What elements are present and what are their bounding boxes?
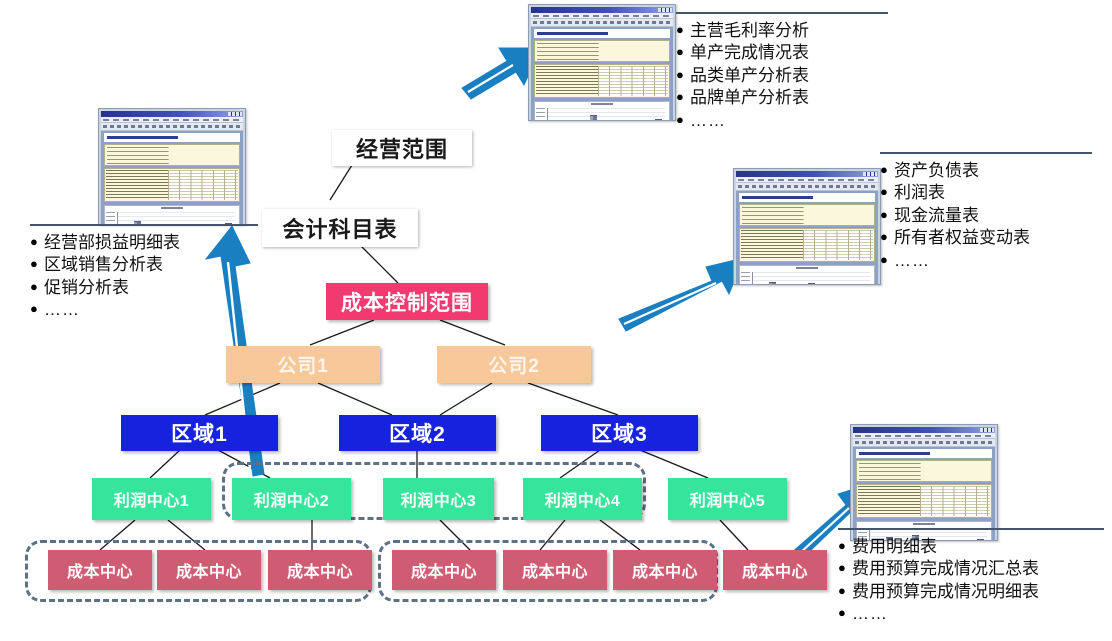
node-region-1[interactable]: 区域1 [121,415,278,451]
list-item: ●品类单产分析表 [676,65,888,87]
chart-bar [655,119,662,121]
thumb-data-table [534,64,670,98]
list-top-right-items: ●主营毛利率分析●单产完成情况表●品类单产分析表●品牌单产分析表●…… [676,20,888,132]
node-profit-center-2[interactable]: 利润中心2 [232,478,351,520]
list-item: ●…… [880,250,1092,272]
list-item-label: …… [690,110,726,132]
thumb-data-table [856,484,992,518]
list-bottom-right: ●费用明细表●费用预算完成情况汇总表●费用预算完成情况明细表●…… [838,528,1104,626]
thumb-titlebar [736,171,878,177]
list-item-label: 费用明细表 [852,536,937,558]
bullet-icon: ● [30,280,44,293]
node-profit-center-5[interactable]: 利润中心5 [668,478,787,520]
node-company-2[interactable]: 公司2 [437,346,591,383]
thumb-data-table [104,168,240,202]
node-cost-center-3[interactable]: 成本中心 [268,550,372,590]
list-item: ●费用预算完成情况汇总表 [838,558,1104,580]
thumb-filter-form [856,460,992,482]
node-region-2[interactable]: 区域2 [339,415,496,451]
node-profit-center-3[interactable]: 利润中心3 [383,478,494,520]
list-item: ●利润表 [880,182,1092,204]
thumb-filter-form [104,144,240,166]
list-rule [880,152,1092,154]
list-top-right: ●主营毛利率分析●单产完成情况表●品类单产分析表●品牌单产分析表●…… [676,12,888,132]
node-profit-center-4[interactable]: 利润中心4 [523,478,642,520]
bullet-icon: ● [30,257,44,270]
bullet-icon: ● [676,23,690,36]
bullet-icon: ● [30,235,44,248]
thumb-toolbar [531,19,673,27]
chart-bar [808,283,815,285]
chart-bar [629,120,636,121]
thumb-report-header [534,29,670,38]
list-item: ●所有者权益变动表 [880,227,1092,249]
list-item-label: 品类单产分析表 [690,65,809,87]
list-item: ●区域销售分析表 [30,254,258,276]
list-mid-right: ●资产负债表●利润表●现金流量表●所有者权益变动表●…… [880,152,1092,272]
chart-bar [769,282,776,285]
node-cost-control-scope[interactable]: 成本控制范围 [326,283,488,320]
node-cost-center-5[interactable]: 成本中心 [503,550,607,590]
list-item: ●现金流量表 [880,205,1092,227]
thumb-bar-chart [739,265,875,285]
thumb-data-table [739,228,875,262]
node-scope-business[interactable]: 经营范围 [332,130,472,166]
node-region-3[interactable]: 区域3 [541,415,698,451]
list-item: ●经营部损益明细表 [30,232,258,254]
list-mid-right-items: ●资产负债表●利润表●现金流量表●所有者权益变动表●…… [880,160,1092,272]
list-item-label: 经营部损益明细表 [44,232,180,254]
bullet-icon: ● [880,230,894,243]
chart-bar [834,284,841,285]
bullet-icon: ● [880,185,894,198]
bullet-icon: ● [838,539,852,552]
list-left-items: ●经营部损益明细表●区域销售分析表●促销分析表●…… [30,232,258,322]
list-item: ●促销分析表 [30,277,258,299]
list-item-label: 资产负债表 [894,160,979,182]
list-item-label: 区域销售分析表 [44,254,163,276]
bullet-icon: ● [838,606,852,619]
thumb-toolbar [736,183,878,191]
bullet-icon: ● [30,302,44,315]
thumb-filter-form [534,40,670,62]
list-item: ●…… [30,299,258,321]
thumb-titlebar [101,111,243,117]
list-item: ●品牌单产分析表 [676,87,888,109]
thumb-titlebar [531,7,673,13]
list-left: ●经营部损益明细表●区域销售分析表●促销分析表●…… [30,224,258,322]
list-item: ●费用明细表 [838,536,1104,558]
list-item: ●主营毛利率分析 [676,20,888,42]
list-bottom-right-items: ●费用明细表●费用预算完成情况汇总表●费用预算完成情况明细表●…… [838,536,1104,626]
node-account-subject[interactable]: 会计科目表 [262,209,418,247]
bullet-icon: ● [880,163,894,176]
bullet-icon: ● [838,561,852,574]
node-cost-center-6[interactable]: 成本中心 [613,550,717,590]
list-item: ●资产负债表 [880,160,1092,182]
thumb-bar-chart [534,101,670,121]
list-item-label: 主营毛利率分析 [690,20,809,42]
thumb-toolbar [101,123,243,131]
list-rule [30,224,258,226]
node-cost-center-2[interactable]: 成本中心 [157,550,261,590]
report-thumb-right[interactable] [733,168,881,285]
thumb-report-header [104,133,240,142]
list-item-label: 单产完成情况表 [690,42,809,64]
node-cost-center-1[interactable]: 成本中心 [48,550,152,590]
chart-bar [590,115,597,121]
list-item-label: 所有者权益变动表 [894,227,1030,249]
bullet-icon: ● [880,208,894,221]
thumb-filter-form [739,204,875,226]
node-company-1[interactable]: 公司1 [226,346,380,383]
report-thumb-bottom-right[interactable] [850,424,998,541]
bullet-icon: ● [880,253,894,266]
list-item-label: 现金流量表 [894,205,979,227]
thumb-report-header [739,193,875,202]
bullet-icon: ● [676,113,690,126]
list-rule [838,528,1104,530]
arrow-to-right-report [619,258,744,331]
thumb-toolbar [853,439,995,447]
thumb-body [101,131,243,225]
thumb-body [531,27,673,121]
thumb-report-header [856,449,992,458]
list-item: ●…… [838,603,1104,625]
thumb-body [853,447,995,541]
diagram-canvas: 经营范围 会计科目表 成本控制范围 公司1 公司2 区域1 区域2 区域3 利润… [0,0,1112,641]
bullet-icon: ● [676,45,690,58]
list-item-label: 利润表 [894,182,945,204]
bullet-icon: ● [676,90,690,103]
list-item-label: 品牌单产分析表 [690,87,809,109]
node-cost-center-7[interactable]: 成本中心 [723,550,827,590]
chart-bar [860,284,867,285]
thumb-body [736,191,878,285]
bullet-icon: ● [676,68,690,81]
node-cost-center-4[interactable]: 成本中心 [392,550,496,590]
list-item: ●…… [676,110,888,132]
list-item-label: …… [44,299,80,321]
list-item: ●费用预算完成情况明细表 [838,581,1104,603]
list-item: ●单产完成情况表 [676,42,888,64]
list-item-label: 费用预算完成情况明细表 [852,581,1039,603]
report-thumb-top[interactable] [528,4,676,121]
list-item-label: …… [894,250,930,272]
bullet-icon: ● [838,584,852,597]
chart-bar [551,120,558,121]
node-profit-center-1[interactable]: 利润中心1 [92,478,211,520]
list-item-label: 费用预算完成情况汇总表 [852,558,1039,580]
list-rule [676,12,888,14]
list-item-label: 促销分析表 [44,277,129,299]
list-item-label: …… [852,603,888,625]
report-thumb-left[interactable] [98,108,246,225]
thumb-bar-chart [104,205,240,225]
thumb-titlebar [853,427,995,433]
